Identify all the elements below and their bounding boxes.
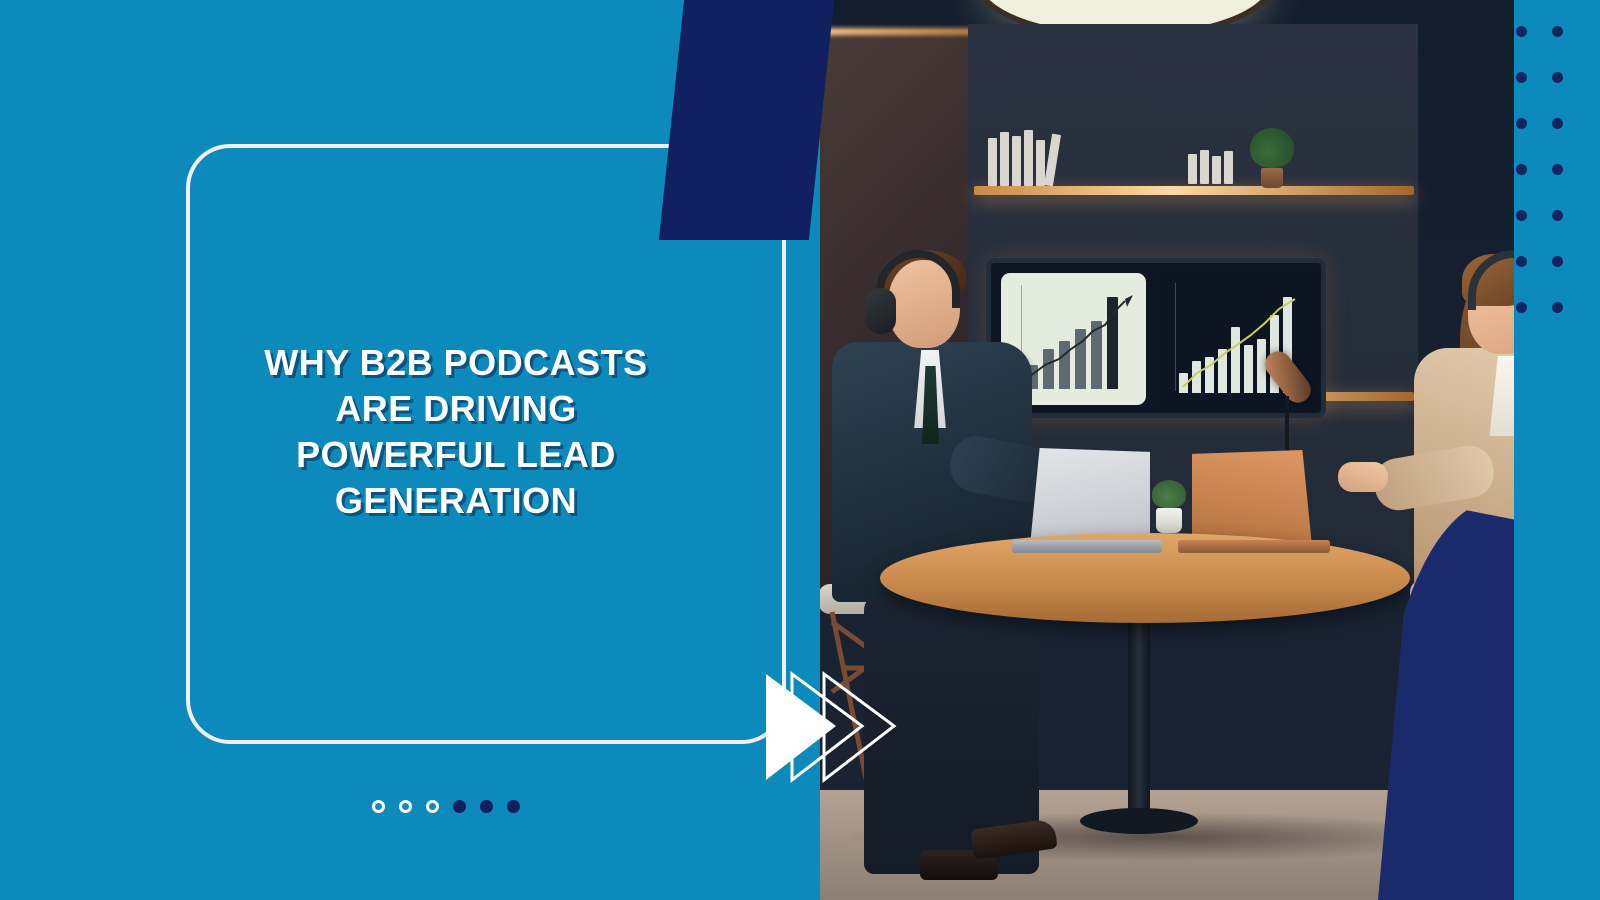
shelf-plant — [1250, 128, 1294, 188]
headline-line: GENERATION — [196, 478, 716, 524]
headline-line: POWERFUL LEAD — [196, 432, 716, 478]
headline-line: ARE DRIVING — [196, 386, 716, 432]
grid-dot — [1516, 302, 1527, 313]
grid-dot — [1552, 164, 1563, 175]
slide-pagination[interactable] — [372, 800, 520, 813]
grid-dot — [1516, 164, 1527, 175]
laptop-silver-base — [1012, 540, 1162, 553]
pagination-dot[interactable] — [399, 800, 412, 813]
forward-arrow-chevrons — [762, 668, 902, 788]
grid-dot — [1552, 118, 1563, 129]
microphone-right — [1275, 348, 1301, 406]
pagination-dot-active[interactable] — [480, 800, 493, 813]
navy-angled-band — [659, 0, 835, 240]
page-title: WHY B2B PODCASTS ARE DRIVING POWERFUL LE… — [196, 340, 716, 524]
table-plant — [1152, 480, 1186, 533]
laptop-orange-base — [1178, 540, 1330, 553]
laptop-silver — [1030, 448, 1150, 546]
table-pedestal — [1128, 608, 1150, 818]
pagination-dot-active[interactable] — [453, 800, 466, 813]
pagination-dot-active[interactable] — [507, 800, 520, 813]
grid-dot — [1516, 26, 1527, 37]
grid-dot — [1552, 72, 1563, 83]
grid-dot — [1516, 210, 1527, 221]
books-group — [988, 130, 1057, 186]
shelf-led-strip-upper — [974, 186, 1414, 195]
grid-dot — [1552, 26, 1563, 37]
dot-grid-right — [1516, 26, 1588, 348]
grid-dot — [1516, 72, 1527, 83]
books-group — [1188, 150, 1233, 184]
headline-line: WHY B2B PODCASTS — [196, 340, 716, 386]
grid-dot — [1516, 118, 1527, 129]
table-base — [1080, 808, 1198, 834]
grid-dot — [1552, 302, 1563, 313]
pagination-dot[interactable] — [426, 800, 439, 813]
laptop-orange — [1192, 450, 1312, 546]
grid-dot — [1552, 210, 1563, 221]
grid-dot — [1516, 256, 1527, 267]
grid-dot — [1552, 256, 1563, 267]
banner-root: WHY B2B PODCASTS ARE DRIVING POWERFUL LE… — [0, 0, 1600, 900]
pagination-dot[interactable] — [372, 800, 385, 813]
